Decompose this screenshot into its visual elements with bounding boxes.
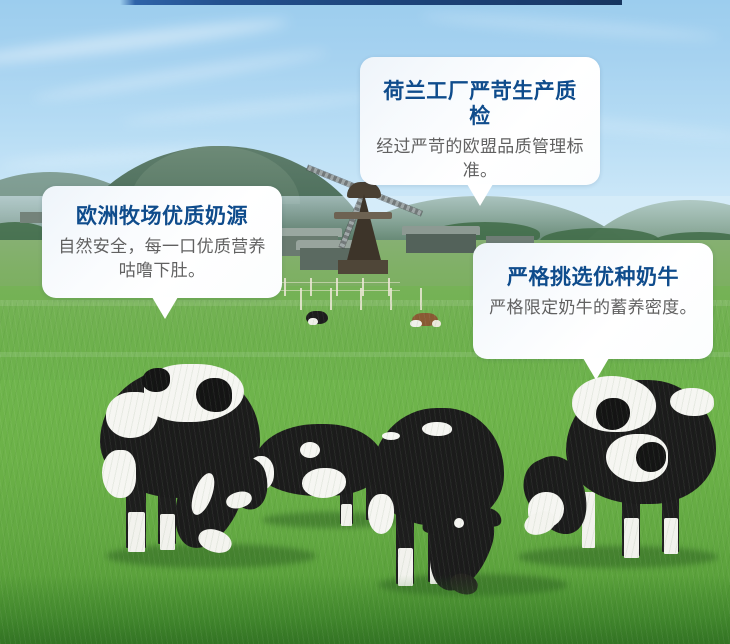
cloud-streak [420, 10, 720, 44]
cow-patch-white [422, 422, 452, 436]
windmill-base [338, 260, 388, 274]
cow-leg [664, 518, 678, 554]
fence-post [336, 278, 338, 296]
meadow-foreground-shade [0, 575, 730, 644]
cow-patch-black [196, 378, 232, 412]
top-divider-bar [120, 0, 622, 5]
distant-cow-brown-patch [410, 320, 422, 327]
callout-pasture[interactable]: 欧洲牧场优质奶源 自然安全，每一口优质营养咕噜下肚。 [42, 186, 282, 298]
cow-shadow [518, 546, 718, 568]
cow-patch-black [142, 368, 170, 392]
fence-post [284, 278, 286, 296]
fence-post [360, 288, 362, 310]
windmill-gallery [334, 212, 392, 219]
cow-patch-white [300, 442, 320, 458]
cow-leg [341, 504, 352, 526]
callout-cows-heading: 严格挑选优种奶牛 [485, 265, 701, 290]
cow-patch-black [636, 442, 666, 472]
cow-patch-white [102, 450, 136, 498]
cow-patch-white [382, 432, 400, 440]
fence-post [330, 288, 332, 310]
cloud-streak [120, 90, 380, 127]
callout-pasture-tail [152, 297, 178, 319]
cow-leg [624, 518, 639, 558]
fence-post [390, 288, 392, 310]
distant-cow-black-patch [308, 318, 318, 325]
fence-post [300, 288, 302, 310]
fence-post [362, 278, 364, 296]
cow-face-spot [454, 518, 464, 528]
cow-leg [128, 512, 145, 552]
fence-post [310, 278, 312, 296]
callout-cows-tail [583, 358, 609, 380]
cow-foreground-right [510, 372, 730, 572]
callout-pasture-heading: 欧洲牧场优质奶源 [54, 204, 270, 229]
cow-patch-white [368, 494, 394, 534]
cow-patch-white [670, 388, 714, 416]
cow-leg [160, 514, 175, 550]
banner-image: 荷兰工厂严苛生产质检 经过严苛的欧盟品质管理标准。 欧洲牧场优质奶源 自然安全，… [0, 0, 730, 644]
callout-factory-body: 经过严苛的欧盟品质管理标准。 [374, 135, 586, 182]
callout-factory[interactable]: 荷兰工厂严苛生产质检 经过严苛的欧盟品质管理标准。 [360, 57, 600, 185]
callout-cows-body: 严格限定奶牛的蓄养密度。 [485, 296, 701, 319]
distant-cow-brown-patch [432, 320, 441, 327]
callout-factory-tail [467, 184, 493, 206]
callout-cows[interactable]: 严格挑选优种奶牛 严格限定奶牛的蓄养密度。 [473, 243, 713, 359]
fence-post [420, 288, 422, 310]
callout-pasture-body: 自然安全，每一口优质营养咕噜下肚。 [54, 235, 270, 282]
callout-factory-heading: 荷兰工厂严苛生产质检 [374, 79, 586, 129]
